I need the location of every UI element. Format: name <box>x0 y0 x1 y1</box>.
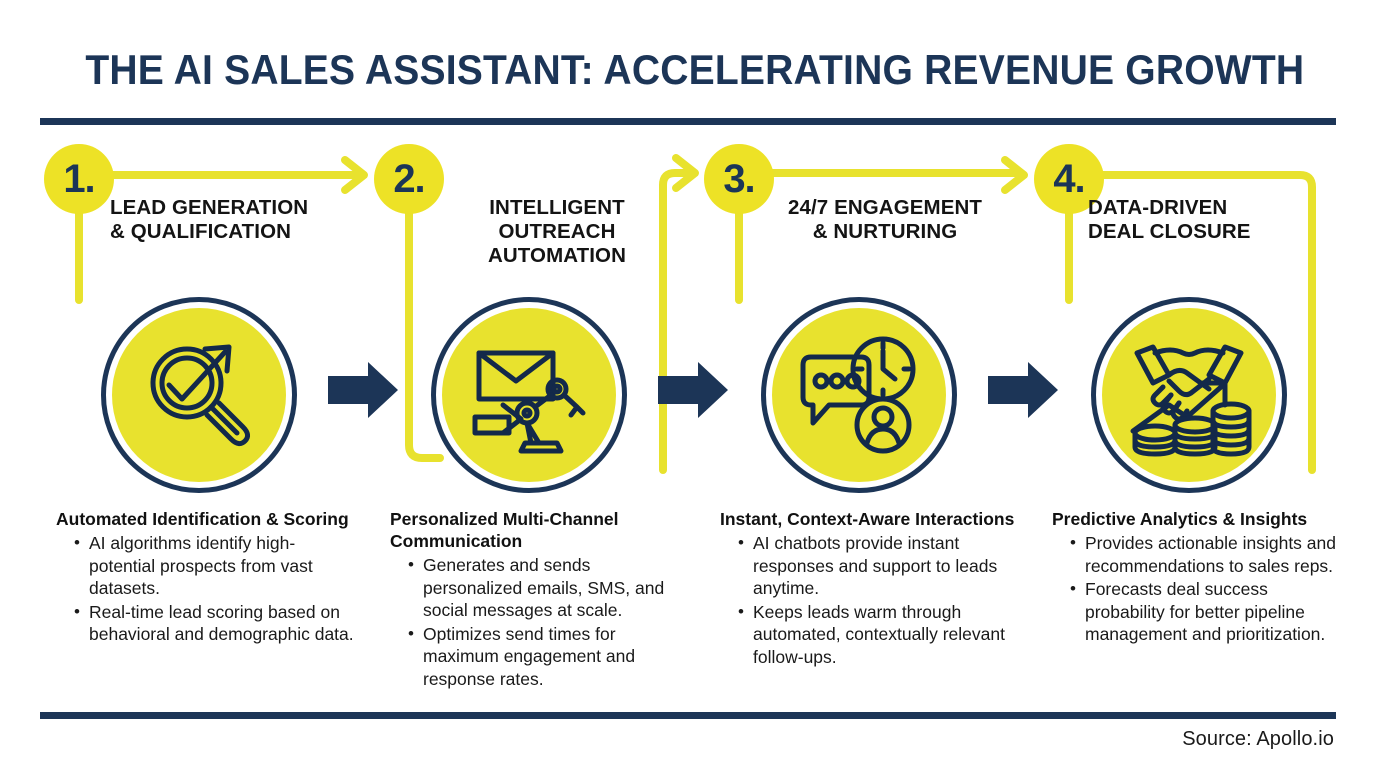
list-item: Generates and sends personalized emails,… <box>408 554 690 622</box>
list-item: Real-time lead scoring based on behavior… <box>74 601 356 646</box>
source-attribution: Source: Apollo.io <box>1182 728 1334 751</box>
list-item: Optimizes send times for maximum engagem… <box>408 623 690 691</box>
step-4-body: Predictive Analytics & Insights Provides… <box>1052 508 1352 647</box>
step-1-subhead: Automated Identification & Scoring <box>56 508 356 530</box>
step-3-icon-circle <box>761 297 957 493</box>
step-4-bullet-list: Provides actionable insights and recomme… <box>1052 532 1352 646</box>
step-3-body: Instant, Context-Aware Interactions AI c… <box>720 508 1020 669</box>
step-4-icon-circle <box>1091 297 1287 493</box>
footer-divider <box>40 712 1336 719</box>
step-2-subhead: Personalized Multi-Channel Communication <box>390 508 690 552</box>
list-item: Forecasts deal success probability for b… <box>1070 578 1352 646</box>
chat-clock-user-icon <box>795 331 923 459</box>
step-2: 2. INTELLIGENTOUTREACHAUTOMATION Persona… <box>370 0 700 768</box>
step-3-bullet-list: AI chatbots provide instant responses an… <box>720 532 1020 668</box>
list-item: AI algorithms identify high-potential pr… <box>74 532 356 600</box>
step-1-number-badge: 1. <box>44 144 114 214</box>
step-3-title: 24/7 ENGAGEMENT& NURTURING <box>750 196 1020 244</box>
infographic-canvas: THE AI SALES ASSISTANT: ACCELERATING REV… <box>0 0 1376 768</box>
list-item: Provides actionable insights and recomme… <box>1070 532 1352 577</box>
magnifier-check-growth-arrow-icon <box>135 331 263 459</box>
envelope-robot-arm-send-icon <box>465 331 593 459</box>
list-item: Keeps leads warm through automated, cont… <box>738 601 1020 669</box>
step-2-icon-circle <box>431 297 627 493</box>
step-1-body: Automated Identification & Scoring AI al… <box>56 508 356 647</box>
step-1-icon-circle <box>101 297 297 493</box>
step-2-title: INTELLIGENTOUTREACHAUTOMATION <box>432 196 682 268</box>
step-2-body: Personalized Multi-Channel Communication… <box>390 508 690 691</box>
step-1: 1. LEAD GENERATION& QUALIFICATION Automa… <box>40 0 370 768</box>
step-1-title: LEAD GENERATION& QUALIFICATION <box>110 196 370 244</box>
step-2-bullet-list: Generates and sends personalized emails,… <box>390 554 690 690</box>
step-3: 3. 24/7 ENGAGEMENT& NURTURING Instant, C… <box>700 0 1030 768</box>
list-item: AI chatbots provide instant responses an… <box>738 532 1020 600</box>
step-4: 4. DATA-DRIVENDEAL CLOSURE <box>1030 0 1360 768</box>
handshake-coins-growth-icon <box>1125 331 1253 459</box>
step-4-title: DATA-DRIVENDEAL CLOSURE <box>1088 196 1344 244</box>
step-1-bullet-list: AI algorithms identify high-potential pr… <box>56 532 356 646</box>
step-3-subhead: Instant, Context-Aware Interactions <box>720 508 1020 530</box>
step-4-subhead: Predictive Analytics & Insights <box>1052 508 1352 530</box>
